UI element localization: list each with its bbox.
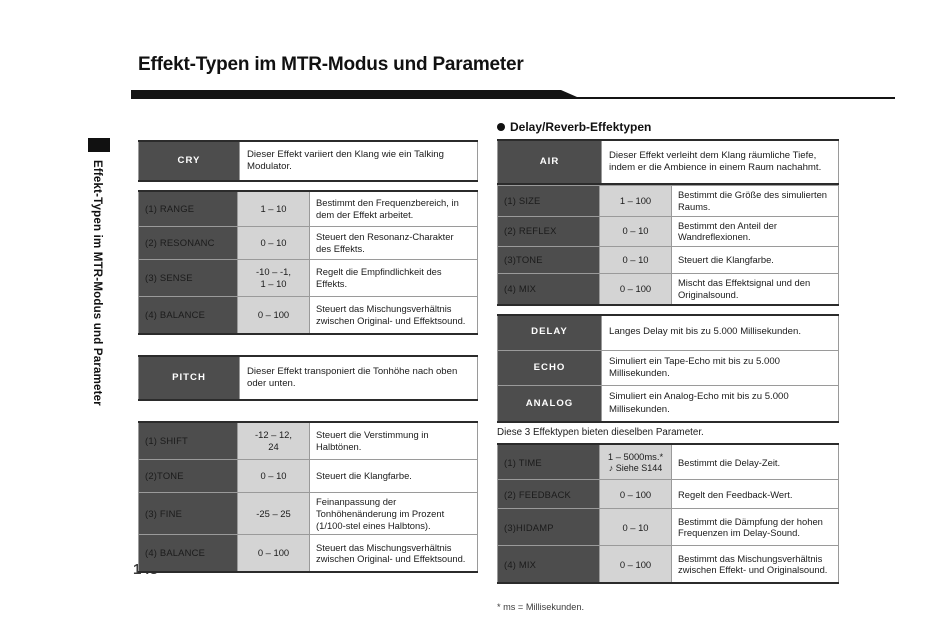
table-row: (4) BALANCE 0 – 100 Steuert das Mischung… [139,535,478,573]
bullet-icon [497,123,505,131]
param-name: (1) SHIFT [139,422,238,460]
side-tab-marker [88,138,110,152]
param-name: (4) MIX [498,274,600,305]
air-header-table: AIR Dieser Effekt verleiht dem Klang räu… [497,139,839,185]
table-row: (4) MIX 0 – 100 Mischt das Effektsignal … [498,274,839,305]
param-range: 1 – 5000ms.* [606,451,665,463]
param-range: -12 – 12, 24 [238,422,310,460]
air-effect-name: AIR [498,140,602,184]
param-name: (3)HIDAMP [498,509,600,546]
pitch-header-table: PITCH Dieser Effekt transponiert die Ton… [138,355,478,401]
param-description: Bestimmt die Größe des simulierten Raums… [672,186,839,217]
param-description: Feinanpassung der Tonhöhenänderung im Pr… [310,493,478,535]
table-row: (3) FINE -25 – 25 Feinanpassung der Tonh… [139,493,478,535]
footnote: * ms = Millisekunden. [497,602,839,612]
param-range: 0 – 10 [238,227,310,260]
param-range: 0 – 100 [238,297,310,335]
delay-type-description: Langes Delay mit bis zu 5.000 Millisekun… [602,315,839,351]
param-range: 0 – 10 [238,460,310,493]
param-name: (2) FEEDBACK [498,480,600,509]
param-range: 0 – 100 [600,480,672,509]
right-column: Delay/Reverb-Effektypen AIR Dieser Effek… [497,120,839,612]
table-row: PITCH Dieser Effekt transponiert die Ton… [139,356,478,400]
param-description: Bestimmt den Anteil der Wandreflexionen. [672,216,839,247]
delay-type-description: Simuliert ein Tape-Echo mit bis zu 5.000… [602,350,839,386]
param-name: (3) FINE [139,493,238,535]
shared-parameters-caption: Diese 3 Effektypen bieten dieselben Para… [497,427,839,438]
spacer [138,182,478,190]
pitch-parameter-table: (1) SHIFT -12 – 12, 24 Steuert die Verst… [138,421,478,573]
left-column: CRY Dieser Effekt variiert den Klang wie… [138,140,478,573]
side-tab-label: Effekt-Typen im MTR-Modus und Parameter [91,160,103,406]
param-description: Steuert das Mischungsverhältnis zwischen… [310,535,478,573]
param-name: (2) RESONANC [139,227,238,260]
air-effect-description: Dieser Effekt verleiht dem Klang räumlic… [602,140,839,184]
param-description: Steuert die Klangfarbe. [672,247,839,274]
cry-parameter-table: (1) RANGE 1 – 10 Bestimmt den Frequenzbe… [138,190,478,335]
param-name: (4) BALANCE [139,297,238,335]
title-rule-divider [131,90,895,101]
delay-type-name: ECHO [498,350,602,386]
table-row: (3)HIDAMP 0 – 10 Bestimmt die Dämpfung d… [498,509,839,546]
param-range: 0 – 10 [600,247,672,274]
table-row: CRY Dieser Effekt variiert den Klang wie… [139,141,478,181]
table-row: ANALOG Simuliert ein Analog-Echo mit bis… [498,386,839,422]
delay-types-table: DELAY Langes Delay mit bis zu 5.000 Mill… [497,314,839,424]
param-description: Mischt das Effektsignal und den Original… [672,274,839,305]
param-range: 0 – 100 [238,535,310,573]
cry-effect-name: CRY [139,141,240,181]
param-description: Bestimmt die Delay-Zeit. [672,444,839,480]
param-range: 0 – 100 [600,274,672,305]
param-name: (3) SENSE [139,260,238,297]
param-description: Bestimmt das Mischungsverhältnis zwische… [672,546,839,584]
param-name: (2)TONE [139,460,238,493]
param-range: 0 – 10 [600,216,672,247]
param-name: (4) MIX [498,546,600,584]
table-row: ECHO Simuliert ein Tape-Echo mit bis zu … [498,350,839,386]
side-tab: Effekt-Typen im MTR-Modus und Parameter [88,138,114,438]
table-row: (1) SHIFT -12 – 12, 24 Steuert die Verst… [139,422,478,460]
pitch-effect-description: Dieser Effekt transponiert die Tonhöhe n… [240,356,478,400]
param-range: -10 – -1, 1 – 10 [238,260,310,297]
table-row: AIR Dieser Effekt verleiht dem Klang räu… [498,140,839,184]
param-description: Regelt die Empfindlichkeit des Effekts. [310,260,478,297]
spacer [497,306,839,314]
param-range: 0 – 10 [600,509,672,546]
pitch-effect-name: PITCH [139,356,240,400]
cry-header-table: CRY Dieser Effekt variiert den Klang wie… [138,140,478,182]
table-row: (1) TIME 1 – 5000ms.* ♪ Siehe S144 Besti… [498,444,839,480]
table-row: (2) RESONANC 0 – 10 Steuert den Resonanz… [139,227,478,260]
delay-type-description: Simuliert ein Analog-Echo mit bis zu 5.0… [602,386,839,422]
table-row: (1) SIZE 1 – 100 Bestimmt die Größe des … [498,186,839,217]
param-name: (3)TONE [498,247,600,274]
param-name: (1) TIME [498,444,600,480]
param-range: 1 – 100 [600,186,672,217]
param-name: (2) REFLEX [498,216,600,247]
table-row: (2) FEEDBACK 0 – 100 Regelt den Feedback… [498,480,839,509]
spacer [138,335,478,355]
param-description: Regelt den Feedback-Wert. [672,480,839,509]
param-description: Bestimmt den Frequenzbereich, in dem der… [310,191,478,227]
table-row: (3) SENSE -10 – -1, 1 – 10 Regelt die Em… [139,260,478,297]
table-row: (3)TONE 0 – 10 Steuert die Klangfarbe. [498,247,839,274]
param-range: 1 – 10 [238,191,310,227]
delay-type-name: ANALOG [498,386,602,422]
param-description: Steuert die Klangfarbe. [310,460,478,493]
section-heading: Delay/Reverb-Effektypen [497,120,839,134]
param-range: 0 – 100 [600,546,672,584]
table-row: (2)TONE 0 – 10 Steuert die Klangfarbe. [139,460,478,493]
table-row: (4) BALANCE 0 – 100 Steuert das Mischung… [139,297,478,335]
delay-type-name: DELAY [498,315,602,351]
param-description: Steuert den Resonanz-Charakter des Effek… [310,227,478,260]
param-description: Bestimmt die Dämpfung der hohen Frequenz… [672,509,839,546]
param-name: (1) SIZE [498,186,600,217]
table-row: DELAY Langes Delay mit bis zu 5.000 Mill… [498,315,839,351]
param-name: (1) RANGE [139,191,238,227]
param-description: Steuert die Verstimmung in Halbtönen. [310,422,478,460]
table-row: (2) REFLEX 0 – 10 Bestimmt den Anteil de… [498,216,839,247]
section-heading-label: Delay/Reverb-Effektypen [510,120,651,134]
param-description: Steuert das Mischungsverhältnis zwischen… [310,297,478,335]
page-title: Effekt-Typen im MTR-Modus und Parameter [138,54,524,76]
air-parameter-table: (1) SIZE 1 – 100 Bestimmt die Größe des … [497,185,839,306]
spacer [138,401,478,421]
table-row: (1) RANGE 1 – 10 Bestimmt den Frequenzbe… [139,191,478,227]
param-name: (4) BALANCE [139,535,238,573]
table-row: (4) MIX 0 – 100 Bestimmt das Mischungsve… [498,546,839,584]
shared-parameter-table: (1) TIME 1 – 5000ms.* ♪ Siehe S144 Besti… [497,443,839,584]
cry-effect-description: Dieser Effekt variiert den Klang wie ein… [240,141,478,181]
param-range-note: ♪ Siehe S144 [606,463,665,474]
param-range: -25 – 25 [238,493,310,535]
